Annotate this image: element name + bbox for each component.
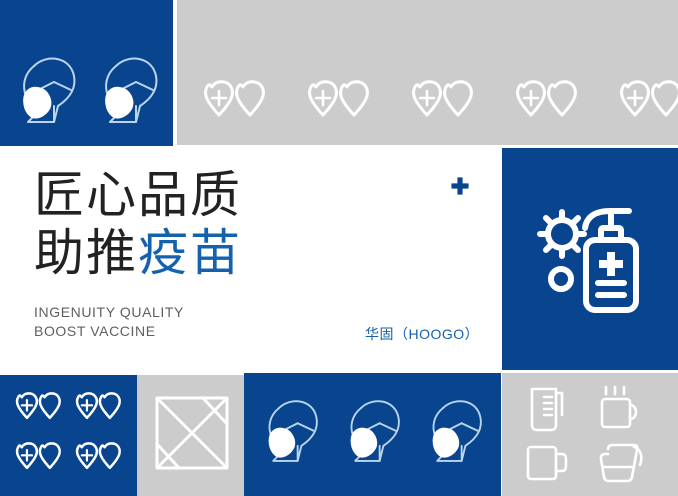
measuring-beaker-icon — [524, 385, 582, 433]
masked-head-icon — [424, 395, 488, 475]
brand-name: 华固（HOOGO） — [365, 324, 479, 344]
bottom-masked-head-row — [260, 395, 490, 475]
masked-head-icon — [260, 395, 324, 475]
plus-icon — [450, 176, 470, 196]
double-heart-plus-icon — [196, 77, 272, 129]
masked-head-icon — [96, 52, 164, 137]
top-heart-icon-row — [196, 72, 666, 134]
subheadline-group: INGENUITY QUALITY BOOST VACCINE — [34, 303, 184, 341]
headline-line-1: 匠心品质 — [34, 166, 434, 224]
double-heart-plus-icon — [10, 387, 66, 433]
double-heart-plus-icon — [612, 77, 678, 129]
headline-line-2: 助推疫苗 — [34, 224, 434, 282]
masked-head-icon — [342, 395, 406, 475]
headline-line-2-accent: 疫苗 — [138, 225, 242, 281]
steaming-mug-icon — [596, 385, 654, 433]
germ-icon — [540, 212, 584, 256]
teapot-icon — [596, 441, 654, 489]
mug-icon — [524, 441, 582, 489]
subheadline-line-1: INGENUITY QUALITY — [34, 303, 184, 322]
double-heart-plus-icon — [70, 387, 126, 433]
masked-head-icon — [14, 52, 82, 137]
poster-canvas: 匠心品质 助推疫苗 INGENUITY QUALITY BOOST VACCIN… — [0, 0, 678, 496]
top-masked-head-row — [14, 52, 164, 137]
subheadline-line-2: BOOST VACCINE — [34, 322, 184, 341]
hand-sanitizer-bottle-icon — [527, 190, 655, 320]
double-heart-plus-icon — [70, 437, 126, 483]
headline-line-2-prefix: 助推 — [34, 225, 138, 281]
broken-image-placeholder-icon — [155, 396, 229, 470]
headline-group: 匠心品质 助推疫苗 — [34, 166, 434, 282]
bottom-heart-icon-grid — [10, 387, 130, 487]
cross-icon — [599, 252, 623, 276]
bottom-vessel-icon-grid — [524, 385, 654, 489]
double-heart-plus-icon — [404, 77, 480, 129]
double-heart-plus-icon — [10, 437, 66, 483]
double-heart-plus-icon — [508, 77, 584, 129]
double-heart-plus-icon — [300, 77, 376, 129]
